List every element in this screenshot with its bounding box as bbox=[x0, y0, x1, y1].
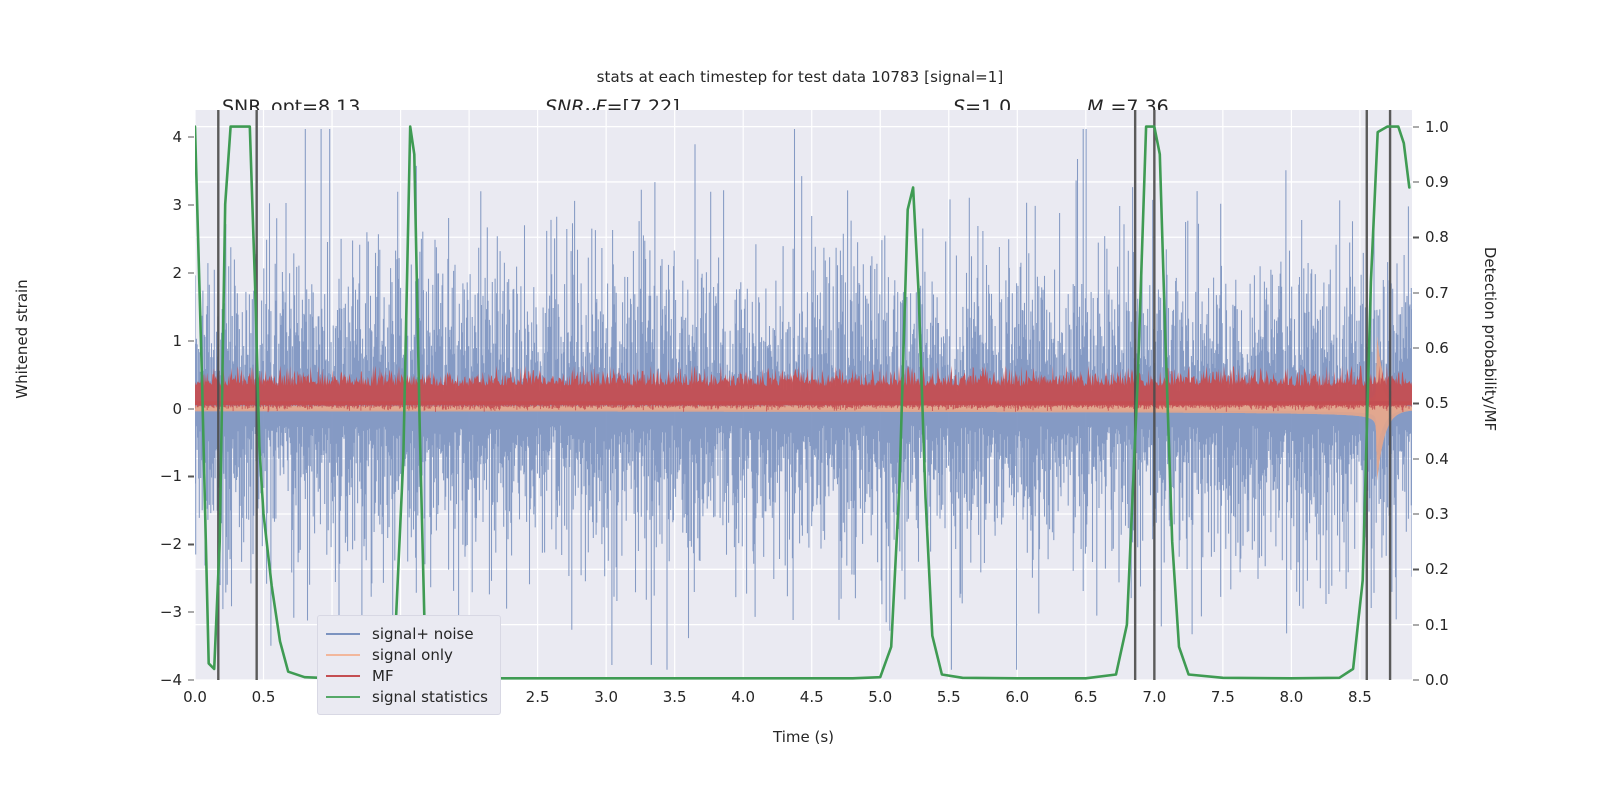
y-tick-mark-left bbox=[188, 137, 194, 138]
legend-swatch-signal-plus-noise bbox=[326, 633, 360, 635]
y-tick-label-left: −4 bbox=[138, 671, 182, 689]
legend-label: MF bbox=[372, 667, 394, 685]
x-tick-label: 8.0 bbox=[1261, 688, 1321, 706]
legend-item[interactable]: signal only bbox=[326, 644, 488, 665]
legend-label: signal+ noise bbox=[372, 625, 474, 643]
y-tick-mark-left bbox=[188, 408, 194, 409]
x-tick-label: 7.0 bbox=[1124, 688, 1184, 706]
y-tick-label-right: 0.9 bbox=[1425, 173, 1485, 191]
y-tick-mark-right bbox=[1413, 126, 1419, 127]
x-tick-label: 5.0 bbox=[850, 688, 910, 706]
y-tick-label-right: 0.3 bbox=[1425, 505, 1485, 523]
y-tick-label-left: 3 bbox=[138, 196, 182, 214]
y-tick-mark-right bbox=[1413, 403, 1419, 404]
y-tick-mark-left bbox=[188, 612, 194, 613]
x-tick-label: 3.0 bbox=[576, 688, 636, 706]
legend-label: signal statistics bbox=[372, 688, 488, 706]
y-tick-mark-right bbox=[1413, 458, 1419, 459]
y-tick-mark-right bbox=[1413, 680, 1419, 681]
y-tick-mark-right bbox=[1413, 237, 1419, 238]
x-tick-label: 6.5 bbox=[1056, 688, 1116, 706]
legend-item[interactable]: signal+ noise bbox=[326, 623, 488, 644]
y-axis-label-left: Whitened strain bbox=[13, 189, 31, 489]
legend[interactable]: signal+ noise signal only MF signal stat… bbox=[317, 615, 501, 715]
y-tick-label-right: 0.4 bbox=[1425, 450, 1485, 468]
y-tick-mark-right bbox=[1413, 569, 1419, 570]
y-tick-label-right: 0.5 bbox=[1425, 394, 1485, 412]
x-tick-label: 6.0 bbox=[987, 688, 1047, 706]
x-tick-label: 4.5 bbox=[782, 688, 842, 706]
y-tick-mark-right bbox=[1413, 292, 1419, 293]
legend-swatch-mf bbox=[326, 675, 360, 677]
x-axis-label: Time (s) bbox=[195, 728, 1412, 746]
legend-swatch-signal-statistics bbox=[326, 696, 360, 698]
x-tick-label: 2.5 bbox=[508, 688, 568, 706]
x-tick-label: 5.5 bbox=[919, 688, 979, 706]
legend-item[interactable]: MF bbox=[326, 665, 488, 686]
y-tick-mark-left bbox=[188, 544, 194, 545]
y-tick-mark-left bbox=[188, 205, 194, 206]
y-tick-mark-right bbox=[1413, 181, 1419, 182]
y-tick-label-left: 1 bbox=[138, 332, 182, 350]
plot-area bbox=[195, 110, 1412, 680]
y-tick-mark-right bbox=[1413, 624, 1419, 625]
figure: stats at each timestep for test data 107… bbox=[0, 0, 1600, 800]
x-tick-label: 7.5 bbox=[1193, 688, 1253, 706]
y-tick-label-left: 2 bbox=[138, 264, 182, 282]
page-title: stats at each timestep for test data 107… bbox=[0, 68, 1600, 86]
y-tick-label-right: 0.1 bbox=[1425, 616, 1485, 634]
y-tick-mark-right bbox=[1413, 513, 1419, 514]
y-tick-label-right: 0.7 bbox=[1425, 284, 1485, 302]
y-tick-label-left: 0 bbox=[138, 400, 182, 418]
legend-label: signal only bbox=[372, 646, 453, 664]
legend-swatch-signal-only bbox=[326, 654, 360, 656]
x-tick-label: 4.0 bbox=[713, 688, 773, 706]
x-tick-label: 0.0 bbox=[165, 688, 225, 706]
y-tick-mark-left bbox=[188, 476, 194, 477]
x-tick-label: 3.5 bbox=[645, 688, 705, 706]
y-tick-label-right: 0.8 bbox=[1425, 228, 1485, 246]
legend-item[interactable]: signal statistics bbox=[326, 686, 488, 707]
y-tick-mark-right bbox=[1413, 347, 1419, 348]
y-tick-label-right: 0.2 bbox=[1425, 560, 1485, 578]
y-tick-mark-left bbox=[188, 272, 194, 273]
plot-canvas bbox=[195, 110, 1412, 680]
x-tick-label: 8.5 bbox=[1330, 688, 1390, 706]
y-tick-label-right: 1.0 bbox=[1425, 118, 1485, 136]
y-tick-label-left: −2 bbox=[138, 535, 182, 553]
y-tick-label-right: 0.0 bbox=[1425, 671, 1485, 689]
y-tick-mark-left bbox=[188, 680, 194, 681]
y-tick-label-right: 0.6 bbox=[1425, 339, 1485, 357]
y-tick-label-left: −3 bbox=[138, 603, 182, 621]
y-tick-label-left: −1 bbox=[138, 467, 182, 485]
x-tick-label: 0.5 bbox=[234, 688, 294, 706]
y-tick-mark-left bbox=[188, 340, 194, 341]
y-tick-label-left: 4 bbox=[138, 128, 182, 146]
